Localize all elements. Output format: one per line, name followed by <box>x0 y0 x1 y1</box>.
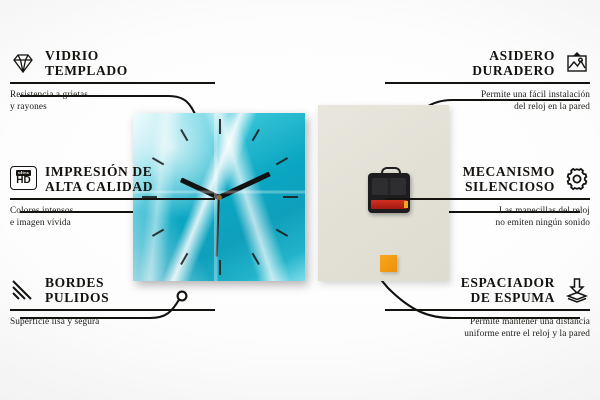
feature-impresion-alta-calidad: ultra HD IMPRESIÓN DE ALTA CALIDAD Color… <box>10 164 215 230</box>
divider <box>10 82 215 83</box>
tick-5 <box>252 253 260 265</box>
feature-subtitle: Resistencia a grietas y rayones <box>10 89 215 114</box>
clock-center-pin <box>217 195 222 200</box>
tick-8 <box>152 229 164 237</box>
polished-edges-icon <box>10 277 36 303</box>
feature-subtitle: Colores intensos e imagen vívida <box>10 205 215 230</box>
tick-12 <box>219 119 221 134</box>
feature-title: IMPRESIÓN DE ALTA CALIDAD <box>45 164 153 194</box>
second-hand <box>216 197 220 257</box>
subtitle-line1: Resistencia a grietas <box>10 90 88 100</box>
title-line1: MECANISMO <box>463 164 555 179</box>
title-line2: DE ESPUMA <box>461 290 555 305</box>
tick-4 <box>276 229 288 237</box>
feature-subtitle: Superficie lisa y segura <box>10 316 215 329</box>
feature-vidrio-templado: VIDRIO TEMPLADO Resistencia a grietas y … <box>10 48 215 114</box>
tick-3 <box>283 196 298 198</box>
title-line2: TEMPLADO <box>45 63 128 78</box>
title-line1: BORDES <box>45 275 109 290</box>
subtitle-line2: no emiten ningún sonido <box>496 218 591 228</box>
minute-hand <box>218 171 271 199</box>
subtitle-line1: Permite una fácil instalación <box>481 90 590 100</box>
hd-large-label: HD <box>16 176 30 186</box>
subtitle-line2: e imagen vívida <box>10 218 71 228</box>
tick-1 <box>252 129 260 141</box>
tick-11 <box>180 129 188 141</box>
divider <box>10 309 215 310</box>
title-line1: IMPRESIÓN DE <box>45 164 153 179</box>
tick-7 <box>180 253 188 265</box>
feature-espaciador-espuma: ESPACIADOR DE ESPUMA Permite mantener un… <box>385 275 590 341</box>
feature-title: BORDES PULIDOS <box>45 275 109 305</box>
subtitle-line2: y rayones <box>10 102 47 112</box>
feature-title: VIDRIO TEMPLADO <box>45 48 128 78</box>
feature-mecanismo-silencioso: MECANISMO SILENCIOSO Las manecillas del … <box>385 164 590 230</box>
feature-subtitle: Permite mantener una distancia uniforme … <box>385 316 590 341</box>
tick-2 <box>276 157 288 165</box>
subtitle-line1: Colores intensos <box>10 206 73 216</box>
title-line2: SILENCIOSO <box>463 179 555 194</box>
title-line1: ASIDERO <box>472 48 555 63</box>
tick-6 <box>219 260 221 275</box>
divider <box>10 198 215 199</box>
foam-spacer <box>380 255 397 272</box>
subtitle-line1: Superficie lisa y segura <box>10 317 99 327</box>
feature-asidero-duradero: ASIDERO DURADERO Permite una fácil insta… <box>385 48 590 114</box>
title-line2: ALTA CALIDAD <box>45 179 153 194</box>
subtitle-line2: uniforme entre el reloj y la pared <box>464 329 590 339</box>
subtitle-line2: del reloj en la pared <box>514 102 590 112</box>
title-line1: VIDRIO <box>45 48 128 63</box>
title-line1: ESPACIADOR <box>461 275 555 290</box>
title-line2: PULIDOS <box>45 290 109 305</box>
feature-subtitle: Las manecillas del reloj no emiten ningú… <box>385 205 590 230</box>
feature-title: ESPACIADOR DE ESPUMA <box>461 275 555 305</box>
foam-spacer-icon <box>564 277 590 303</box>
feature-subtitle: Permite una fácil instalación del reloj … <box>385 89 590 114</box>
divider <box>385 82 590 83</box>
feature-bordes-pulidos: BORDES PULIDOS Superficie lisa y segura <box>10 275 215 328</box>
divider <box>385 198 590 199</box>
hanging-frame-icon <box>564 50 590 76</box>
ultra-hd-icon: ultra HD <box>10 166 36 192</box>
divider <box>385 309 590 310</box>
subtitle-line1: Permite mantener una distancia <box>470 317 590 327</box>
feature-title: MECANISMO SILENCIOSO <box>463 164 555 194</box>
gear-icon <box>564 166 590 192</box>
diamond-icon <box>10 50 36 76</box>
feature-title: ASIDERO DURADERO <box>472 48 555 78</box>
title-line2: DURADERO <box>472 63 555 78</box>
infographic-stage: VIDRIO TEMPLADO Resistencia a grietas y … <box>0 0 600 400</box>
subtitle-line1: Las manecillas del reloj <box>499 206 590 216</box>
